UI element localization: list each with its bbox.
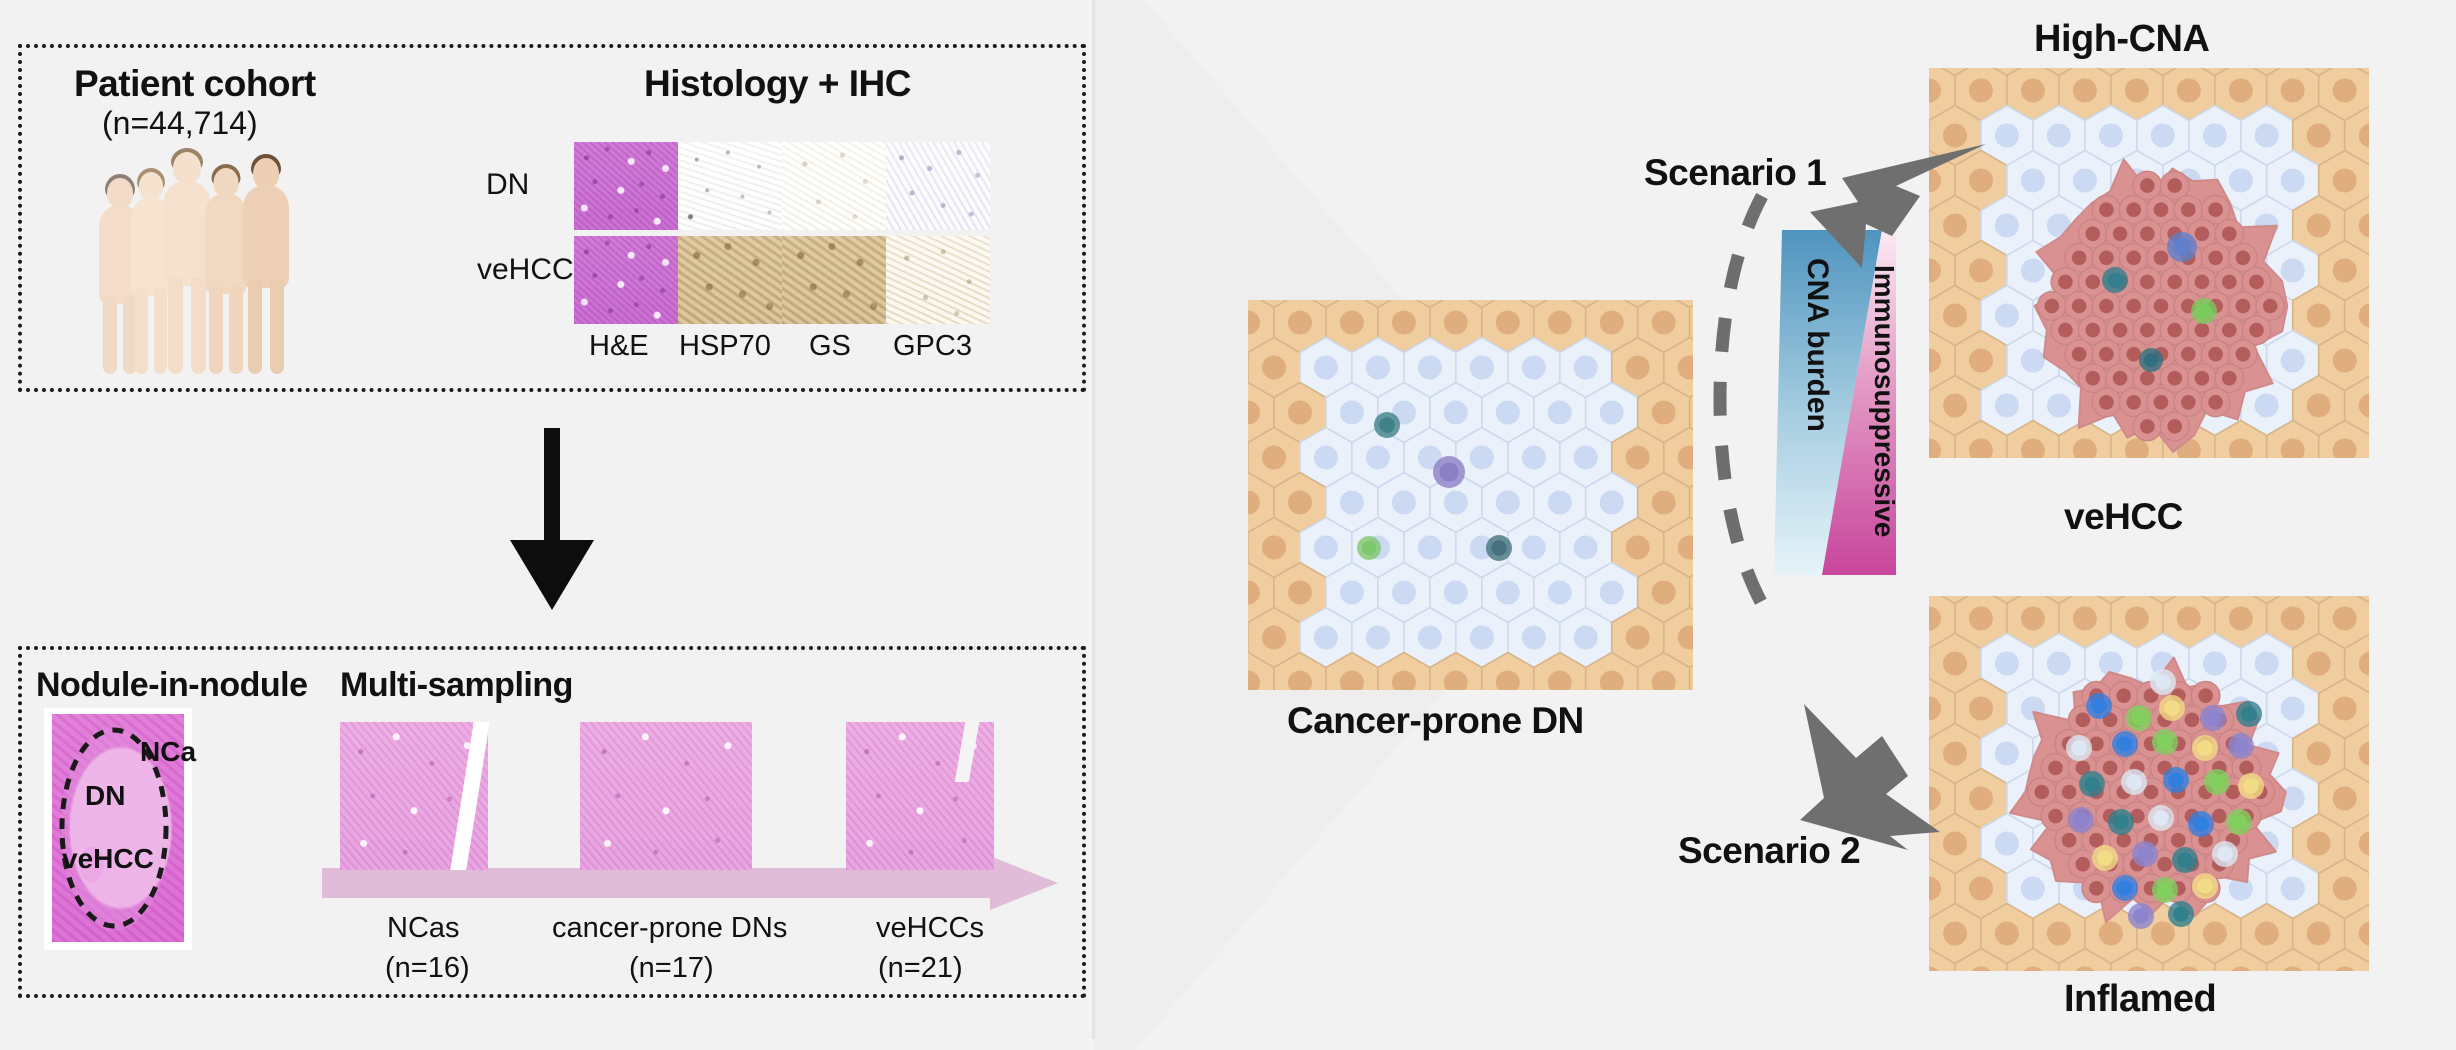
- histology-tile-vehcc-hsp70: [678, 236, 782, 324]
- high-cna-hex-grid: [1929, 68, 2369, 458]
- scenario2-arrow-icon: [1790, 700, 1990, 850]
- vehcc-middle-caption: veHCC: [2064, 496, 2183, 538]
- histology-row-label-dn: DN: [486, 168, 529, 202]
- histology-row-label-vehcc: veHCC: [477, 253, 574, 287]
- sample-count-dns: (n=17): [629, 952, 714, 985]
- patient-cohort-count: (n=44,714): [102, 105, 258, 142]
- histology-tile-vehcc-he: [574, 236, 678, 324]
- inflamed-title: Inflamed: [2064, 978, 2216, 1021]
- scenario1-arrow-icon: [1800, 140, 1990, 270]
- histology-tile-dn-he: [574, 142, 678, 230]
- high-cna-title: High-CNA: [2034, 18, 2209, 61]
- dashed-brace-icon: [1706, 190, 1776, 610]
- histology-tile-dn-hsp70: [678, 142, 782, 230]
- inflamed-hex-grid: [1929, 596, 2369, 971]
- sample-label-ncas: NCas: [387, 912, 460, 945]
- nodule-label-vehcc: veHCC: [62, 843, 154, 875]
- nodule-label-nca: NCa: [140, 736, 196, 768]
- gradient-label-immunosuppressive: Immunosuppressive: [1868, 265, 1900, 537]
- histology-tile-dn-gs: [782, 142, 886, 230]
- histology-title: Histology + IHC: [644, 63, 911, 105]
- multi-sampling-title: Multi-sampling: [340, 666, 573, 705]
- sample-count-vehccs: (n=21): [878, 952, 963, 985]
- histology-col-label-gpc3: GPC3: [893, 330, 972, 363]
- histology-col-label-hsp70: HSP70: [679, 330, 771, 363]
- figure-canvas: Patient cohort (n=44,714): [0, 0, 2456, 1039]
- inflamed-tissue: [1929, 596, 2369, 971]
- cancer-prone-dn-caption: Cancer-prone DN: [1287, 700, 1584, 742]
- sample-tile-dns: [580, 722, 752, 870]
- sample-label-vehccs: veHCCs: [876, 912, 984, 945]
- histology-tile-dn-gpc3: [886, 142, 990, 230]
- dn-hex-grid: [1248, 300, 1693, 690]
- histology-col-label-gs: GS: [809, 330, 851, 363]
- scenario-1-label: Scenario 1: [1644, 152, 1826, 194]
- nodule-in-nodule-title: Nodule-in-nodule: [36, 666, 308, 705]
- sample-label-dns: cancer-prone DNs: [552, 912, 787, 945]
- scenario-2-label: Scenario 2: [1678, 830, 1860, 872]
- histology-tile-vehcc-gs: [782, 236, 886, 324]
- cancer-prone-dn-tissue: [1248, 300, 1693, 690]
- flow-down-arrow-icon: [494, 428, 614, 610]
- high-cna-tissue: [1929, 68, 2369, 458]
- gradient-label-cna-burden: CNA burden: [1800, 258, 1834, 432]
- histology-col-label-he: H&E: [589, 330, 649, 363]
- sample-count-ncas: (n=16): [385, 952, 470, 985]
- patient-cohort-title: Patient cohort: [74, 63, 316, 105]
- panel-divider: [1092, 0, 1095, 1039]
- nodule-label-dn: DN: [85, 780, 125, 812]
- histology-tile-vehcc-gpc3: [886, 236, 990, 324]
